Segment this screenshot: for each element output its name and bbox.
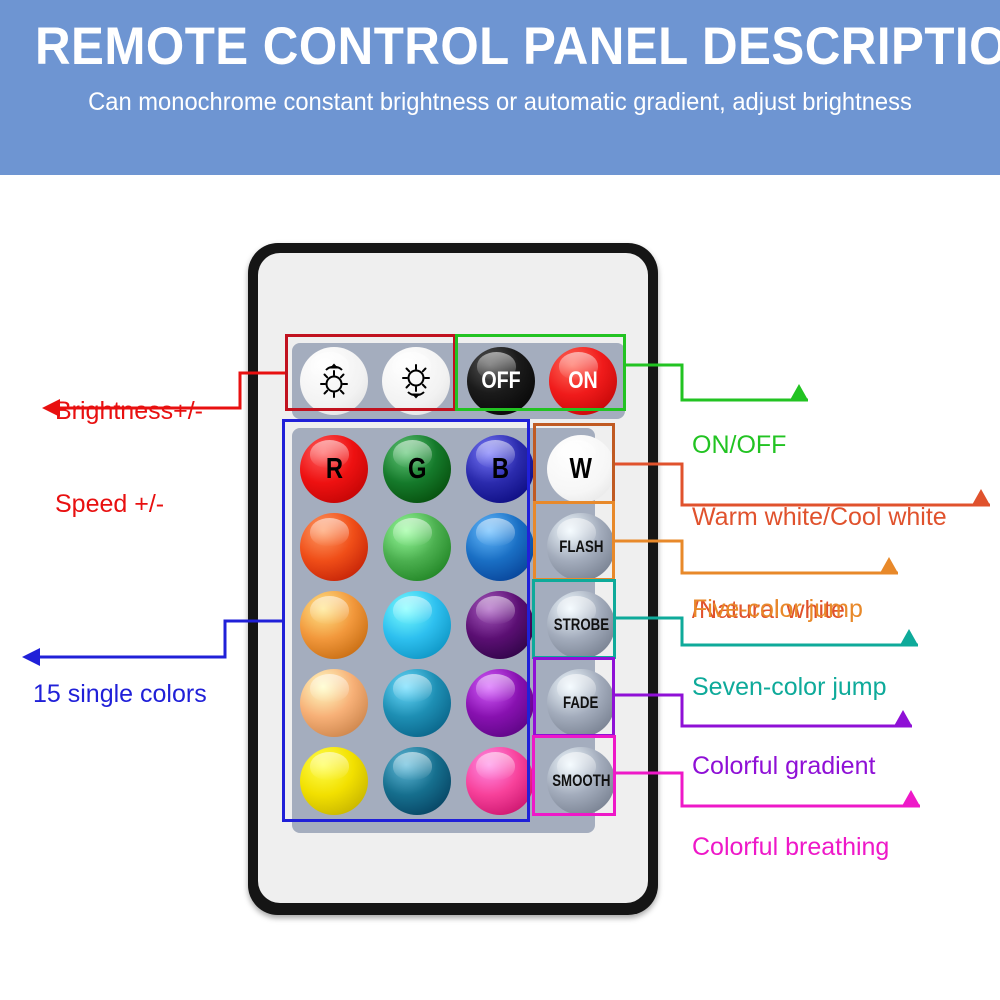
annotation-single-colors-line1: 15 single colors (33, 679, 207, 710)
annotation-brightness: Brightness+/- Speed +/- (55, 334, 203, 551)
function-button-smooth-label: SMOOTH (552, 771, 610, 791)
annotation-colorful-breathing: Colorful breathing (692, 770, 889, 894)
annotation-colorful-breathing-line1: Colorful breathing (692, 832, 889, 863)
color-button-3-label: B (491, 453, 508, 486)
annotation-brightness-line2: Speed +/- (55, 489, 203, 520)
page-title: REMOTE CONTROL PANEL DESCRIPTION (35, 18, 965, 76)
annotation-brightness-line1: Brightness+/- (55, 396, 203, 427)
annotation-single-colors: 15 single colors (33, 617, 207, 741)
function-button-fade-label: FADE (563, 693, 598, 713)
off-button-label: OFF (481, 367, 520, 395)
function-button-flash-label: FLASH (559, 537, 603, 557)
header-banner: REMOTE CONTROL PANEL DESCRIPTION Can mon… (0, 0, 1000, 175)
sun-up-icon (312, 359, 356, 403)
page-subtitle: Can monochrome constant brightness or au… (25, 86, 975, 119)
color-button-1-label: R (325, 453, 342, 486)
color-button-2-label: G (408, 453, 427, 486)
sun-down-icon (394, 359, 438, 403)
on-button-label: ON (568, 367, 598, 395)
function-button-strobe-label: STROBE (553, 615, 608, 635)
function-button-white-label: W (570, 453, 592, 486)
annotation-white-modes-line1: Warm white/Cool white (692, 502, 947, 533)
